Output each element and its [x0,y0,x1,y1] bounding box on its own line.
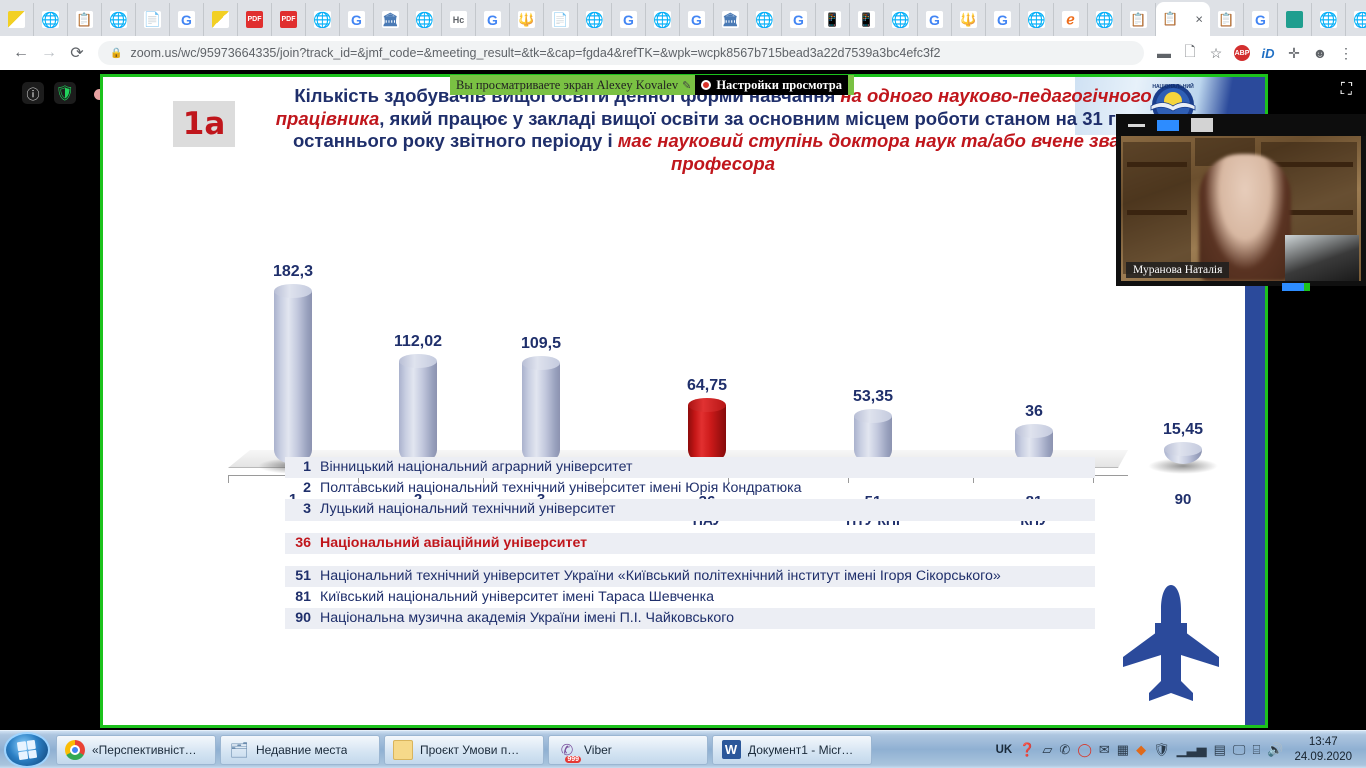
list-item-number: 36 [291,534,311,553]
google-icon: G [688,11,705,28]
browser-tab[interactable]: G [340,3,374,36]
zoom-web-client-viewport: ⓘ 🛡 ⛶ НАЦІОНАЛЬНИЙ 1a [0,70,1366,730]
list-spacer [285,554,1095,566]
yellow-chart-icon [8,11,25,28]
bar-value-label: 182,3 [248,263,338,281]
video-accent-green [1304,283,1310,291]
bar-value-label: 64,75 [662,377,752,395]
browser-tab[interactable]: ℯ [1054,3,1088,36]
folder-icon [393,740,413,760]
reload-button[interactable]: ⟳ [64,40,90,66]
tab-close-icon[interactable]: × [1195,13,1203,26]
taskbar-clock[interactable]: 13:47 24.09.2020 [1290,735,1360,764]
browser-tab[interactable]: 📋 [1210,3,1244,36]
browser-tab[interactable]: PDF [238,3,272,36]
browser-tab[interactable]: 🌐 [1312,3,1346,36]
chart-bar-group: 112,02 [373,333,463,464]
phone-icon: 📱 [824,11,841,28]
taskbar-item-recent-places[interactable]: 🗂 Недавние места [220,735,380,765]
browser-tab[interactable]: 🌐 [646,3,680,36]
viber-badge: 999 [565,756,581,763]
recent-places-icon: 🗂 [229,740,249,760]
display-icon[interactable]: 🖵 [1233,742,1246,758]
browser-tab[interactable]: G [612,3,646,36]
clipboard-icon: 📋 [1162,11,1179,28]
slide-title: Кількість здобувачів вищої освіти денної… [253,85,1193,175]
hc-icon: Hc [450,11,467,28]
browser-tab[interactable]: 🌐 [34,3,68,36]
secondary-participant-thumbnail [1285,235,1359,281]
chart-bar-group: 53,35 [828,388,918,464]
browser-tab[interactable]: 📱 [816,3,850,36]
windows-taskbar: «Перспективніст… 🗂 Недавние места Проєкт… [0,730,1366,768]
browser-tab[interactable]: 🌐 [408,3,442,36]
list-item-number: 3 [291,500,311,519]
video-accent-blue [1282,283,1304,291]
taskbar-item-label: Viber [584,743,612,757]
video-panel-controls [1116,114,1366,136]
list-item: 90 Національна музична академія України … [285,608,1095,629]
list-item: 1 Вінницький національний аграрний уніве… [285,457,1095,478]
browser-tab[interactable]: G [918,3,952,36]
trident-icon: 🔱 [518,11,535,28]
help-icon[interactable]: ❓ [1019,742,1035,758]
video-feed: Муранова Наталія [1121,136,1361,281]
browser-tab[interactable] [204,3,238,36]
airplane-icon [1119,581,1223,713]
title-part-4: має науковий ступінь доктора наук та/або… [618,130,1153,174]
bar-cap [522,356,560,370]
avast-icon[interactable]: ◆ [1136,742,1146,758]
slide-badge: 1a [173,101,235,147]
screen-record-icon[interactable]: ▬ [1152,41,1176,65]
system-tray: UK ❓ ▱ ✆ ◯ ✉ ▦ ◆ 🛡 ▁▃▅ ▤ 🖵 ⌸ 🔊 13:47 24.… [996,735,1366,764]
list-item: 81 Київський національний університет ім… [285,587,1095,608]
yellow-chart-icon [212,11,229,28]
globe-icon: 🌐 [416,11,433,28]
list-item: 2 Полтавський національний технічний уні… [285,478,1095,499]
list-item-label: Національна музична академія України іме… [320,609,734,628]
word-icon: W [721,740,741,760]
address-bar[interactable]: 🔒 zoom.us/wc/95973664335/join?track_id=&… [98,41,1144,65]
browser-tab[interactable]: 🌐 [748,3,782,36]
globe-icon: 🌐 [42,11,59,28]
axis-tick [228,475,229,483]
bar-body [688,405,726,464]
list-item-label: Національний авіаційний університет [320,534,587,553]
browser-tab[interactable]: 📱 [850,3,884,36]
taskbar-item-folder[interactable]: Проєкт Умови п… [384,735,544,765]
bookmark-star-icon[interactable]: ☆ [1204,41,1228,65]
blue-indicator-icon[interactable] [1157,120,1179,131]
browser-tab[interactable]: 🌐 [884,3,918,36]
browser-tab[interactable]: 📄 [544,3,578,36]
globe-icon: 🌐 [314,11,331,28]
bar-value-label: 53,35 [828,388,918,406]
taskbar-item-viber[interactable]: ✆999 Viber [548,735,708,765]
fullscreen-icon[interactable]: ⛶ [1341,82,1352,98]
browser-tab[interactable]: PDF [272,3,306,36]
bar-cap [1015,424,1053,438]
opera-icon[interactable]: ◯ [1077,742,1092,758]
list-item-highlight: 36 Національний авіаційний університет [285,533,1095,554]
globe-icon: 🌐 [756,11,773,28]
browser-tab[interactable]: 🌐 [1020,3,1054,36]
security-icon[interactable]: 🛡 [1153,742,1170,758]
taskbar-item-label: «Перспективніст… [92,743,197,757]
browser-tab[interactable]: G [1244,3,1278,36]
taskbar-item-label: Документ1 - Micr… [748,743,853,757]
x-axis-number: 90 [1138,491,1228,508]
globe-icon: 🌐 [110,11,127,28]
browser-tab[interactable]: 🔱 [952,3,986,36]
orange-e-icon: ℯ [1062,11,1079,28]
list-item-label: Вінницький національний аграрний універс… [320,458,633,477]
browser-toolbar: ← → ⟳ 🔒 zoom.us/wc/95973664335/join?trac… [0,36,1366,70]
google-icon: G [926,11,943,28]
shelf-line [1127,162,1187,167]
list-item-number: 90 [291,609,311,628]
list-item-label: Полтавський національний технічний уніве… [320,479,802,498]
university-legend-list: 1 Вінницький національний аграрний уніве… [285,457,1095,629]
bar-cylinder [399,354,437,464]
taskbar-item-chrome[interactable]: «Перспективніст… [56,735,216,765]
document-icon: 📄 [552,11,569,28]
browser-tab[interactable]: 🌐 [306,3,340,36]
screen-share-notice-text: Вы просматриваете экран Alexey Kovalev [456,78,678,93]
viber-tray-icon[interactable]: ✆ [1059,742,1070,758]
bar-cap [1164,442,1202,456]
bar-value-label: 15,45 [1138,421,1228,439]
chart-bar-group: 109,5 [496,335,586,464]
list-item-number: 51 [291,567,311,586]
clock-date: 24.09.2020 [1294,750,1352,764]
globe-icon: 🌐 [1354,11,1366,28]
show-hidden-icons-icon[interactable]: ▱ [1042,742,1052,758]
browser-tab[interactable] [0,3,34,36]
bank-icon: 🏛 [382,11,399,28]
chrome-browser-window: 🌐 📋 🌐 📄 G PDF PDF 🌐 G 🏛 🌐 Hc G 🔱 📄 🌐 G 🌐… [0,0,1366,768]
globe-icon: 🌐 [1028,11,1045,28]
clipboard-icon: 📋 [1130,11,1147,28]
translate-icon[interactable]: 🗋 [1178,41,1202,65]
bar-cap [854,409,892,423]
browser-tab[interactable]: 🔱 [510,3,544,36]
participant-name-label: Муранова Наталія [1126,262,1229,278]
participant-video-panel[interactable]: Муранова Наталія [1116,114,1366,286]
forward-button[interactable]: → [36,40,62,66]
chart-bar-group: 15,45 [1138,421,1228,464]
windows-logo-icon [17,739,37,759]
bar-value-label: 112,02 [373,333,463,351]
browser-tab[interactable]: 📋 [1122,3,1156,36]
bar-cylinder [274,284,312,464]
list-item-number: 2 [291,479,311,498]
zoom-left-icon-group: ⓘ 🛡 [22,82,76,104]
info-icon[interactable]: ⓘ [22,82,44,104]
pdf-icon: PDF [280,11,297,28]
chrome-icon [65,740,85,760]
gray-indicator-icon[interactable] [1191,118,1213,132]
google-icon: G [1252,11,1269,28]
browser-tab[interactable]: Hc [442,3,476,36]
taskbar-item-word[interactable]: W Документ1 - Micr… [712,735,872,765]
record-dot-icon [701,80,711,90]
browser-tab[interactable]: 🌐 [1088,3,1122,36]
language-indicator[interactable]: UK [996,744,1013,756]
x-axis-label: 90 [1138,491,1228,508]
viber-icon: ✆999 [557,740,577,760]
list-item-label: Київський національний університет імені… [320,588,714,607]
browser-tab[interactable]: 🌐 [102,3,136,36]
annotate-pencil-icon[interactable]: ✎ [682,79,691,92]
minimize-bar-icon[interactable] [1128,124,1145,127]
document-icon: 📄 [144,11,161,28]
view-settings-button[interactable]: Настройки просмотра [695,75,848,95]
shelf-line [1267,162,1353,167]
network-icon[interactable]: ▁▃▅ [1177,742,1207,758]
list-item-label: Луцький національний технічний університ… [320,500,616,519]
trident-icon: 🔱 [960,11,977,28]
profile-avatar-icon[interactable]: ☻ [1308,41,1332,65]
lock-icon: 🔒 [110,48,122,59]
bar-cylinder [854,409,892,464]
browser-tab[interactable]: 📋 [68,3,102,36]
shelf-line [1127,210,1187,215]
chart-bar-group: 36 [989,403,1079,464]
url-text: zoom.us/wc/95973664335/join?track_id=&jm… [130,46,940,60]
bar-body [522,363,560,464]
browser-tab[interactable]: 🏛 [714,3,748,36]
teal-icon [1286,11,1303,28]
globe-icon: 🌐 [1096,11,1113,28]
pdf-icon: PDF [246,11,263,28]
bar-cylinder-highlight [688,398,726,464]
globe-icon: 🌐 [586,11,603,28]
globe-icon: 🌐 [892,11,909,28]
battery-icon[interactable]: ▤ [1214,742,1226,758]
bar-value-label: 36 [989,403,1079,421]
google-icon: G [994,11,1011,28]
chart-bar-group: 182,3 [248,263,338,464]
security-shield-icon[interactable]: 🛡 [54,82,76,104]
browser-tab[interactable]: G [680,3,714,36]
list-item: 3 Луцький національний технічний універс… [285,499,1095,520]
clock-time: 13:47 [1294,735,1352,749]
clipboard-icon: 📋 [1218,11,1235,28]
list-item-number: 81 [291,588,311,607]
browser-tab[interactable]: 📄 [136,3,170,36]
browser-tab-active[interactable]: 📋 × [1156,2,1210,36]
browser-tab[interactable]: G [476,3,510,36]
browser-tab[interactable]: G [170,3,204,36]
list-item: 51 Національний технічний університет Ук… [285,566,1095,587]
bar-body [399,361,437,464]
shared-screen-frame: НАЦІОНАЛЬНИЙ 1a Кількість здобувачів вищ… [100,74,1268,728]
bar-cap [688,398,726,412]
google-icon: G [348,11,365,28]
mail-icon[interactable]: ✉ [1099,742,1110,758]
list-item-label: Національний технічний університет Украї… [320,567,1001,586]
screen-share-notice: Вы просматриваете экран Alexey Kovalev ✎… [450,75,854,95]
bank-icon: 🏛 [722,11,739,28]
chart-bar-group-highlight: 64,75 [662,377,752,464]
rubik-icon[interactable]: ▦ [1117,742,1129,758]
bar-body [274,291,312,464]
list-item-number: 1 [291,458,311,477]
google-icon: G [790,11,807,28]
usb-icon[interactable]: ⌸ [1252,742,1260,758]
presentation-slide: НАЦІОНАЛЬНИЙ 1a Кількість здобувачів вищ… [103,77,1265,725]
chrome-menu-icon[interactable]: ⋮ [1334,41,1358,65]
taskbar-item-label: Недавние места [256,743,347,757]
browser-tab[interactable]: 🏛 [374,3,408,36]
bar-cylinder [522,356,560,464]
start-button[interactable] [4,732,50,768]
browser-tab[interactable]: G [986,3,1020,36]
google-icon: G [178,11,195,28]
bar-cap [274,284,312,298]
browser-tab[interactable] [1278,3,1312,36]
clipboard-icon: 📋 [76,11,93,28]
bar-value-label: 109,5 [496,335,586,353]
extensions-puzzle-icon[interactable]: ✛ [1282,41,1306,65]
phone-icon: 📱 [858,11,875,28]
list-spacer [285,521,1095,533]
view-settings-label: Настройки просмотра [716,78,842,93]
bar-cap [399,354,437,368]
browser-tab[interactable]: G [782,3,816,36]
taskbar-item-label: Проєкт Умови п… [420,743,519,757]
back-button[interactable]: ← [8,40,34,66]
bar-cylinder [1164,442,1202,464]
browser-tab[interactable]: 🌐 [578,3,612,36]
adblock-plus-icon[interactable]: ABP [1230,41,1254,65]
browser-tab-strip: 🌐 📋 🌐 📄 G PDF PDF 🌐 G 🏛 🌐 Hc G 🔱 📄 🌐 G 🌐… [0,0,1366,36]
browser-tab[interactable]: 🌐 [1346,3,1366,36]
globe-icon: 🌐 [1320,11,1337,28]
globe-icon: 🌐 [654,11,671,28]
google-icon: G [484,11,501,28]
id-extension-icon[interactable]: iD [1256,41,1280,65]
google-icon: G [620,11,637,28]
volume-icon[interactable]: 🔊 [1267,742,1283,758]
